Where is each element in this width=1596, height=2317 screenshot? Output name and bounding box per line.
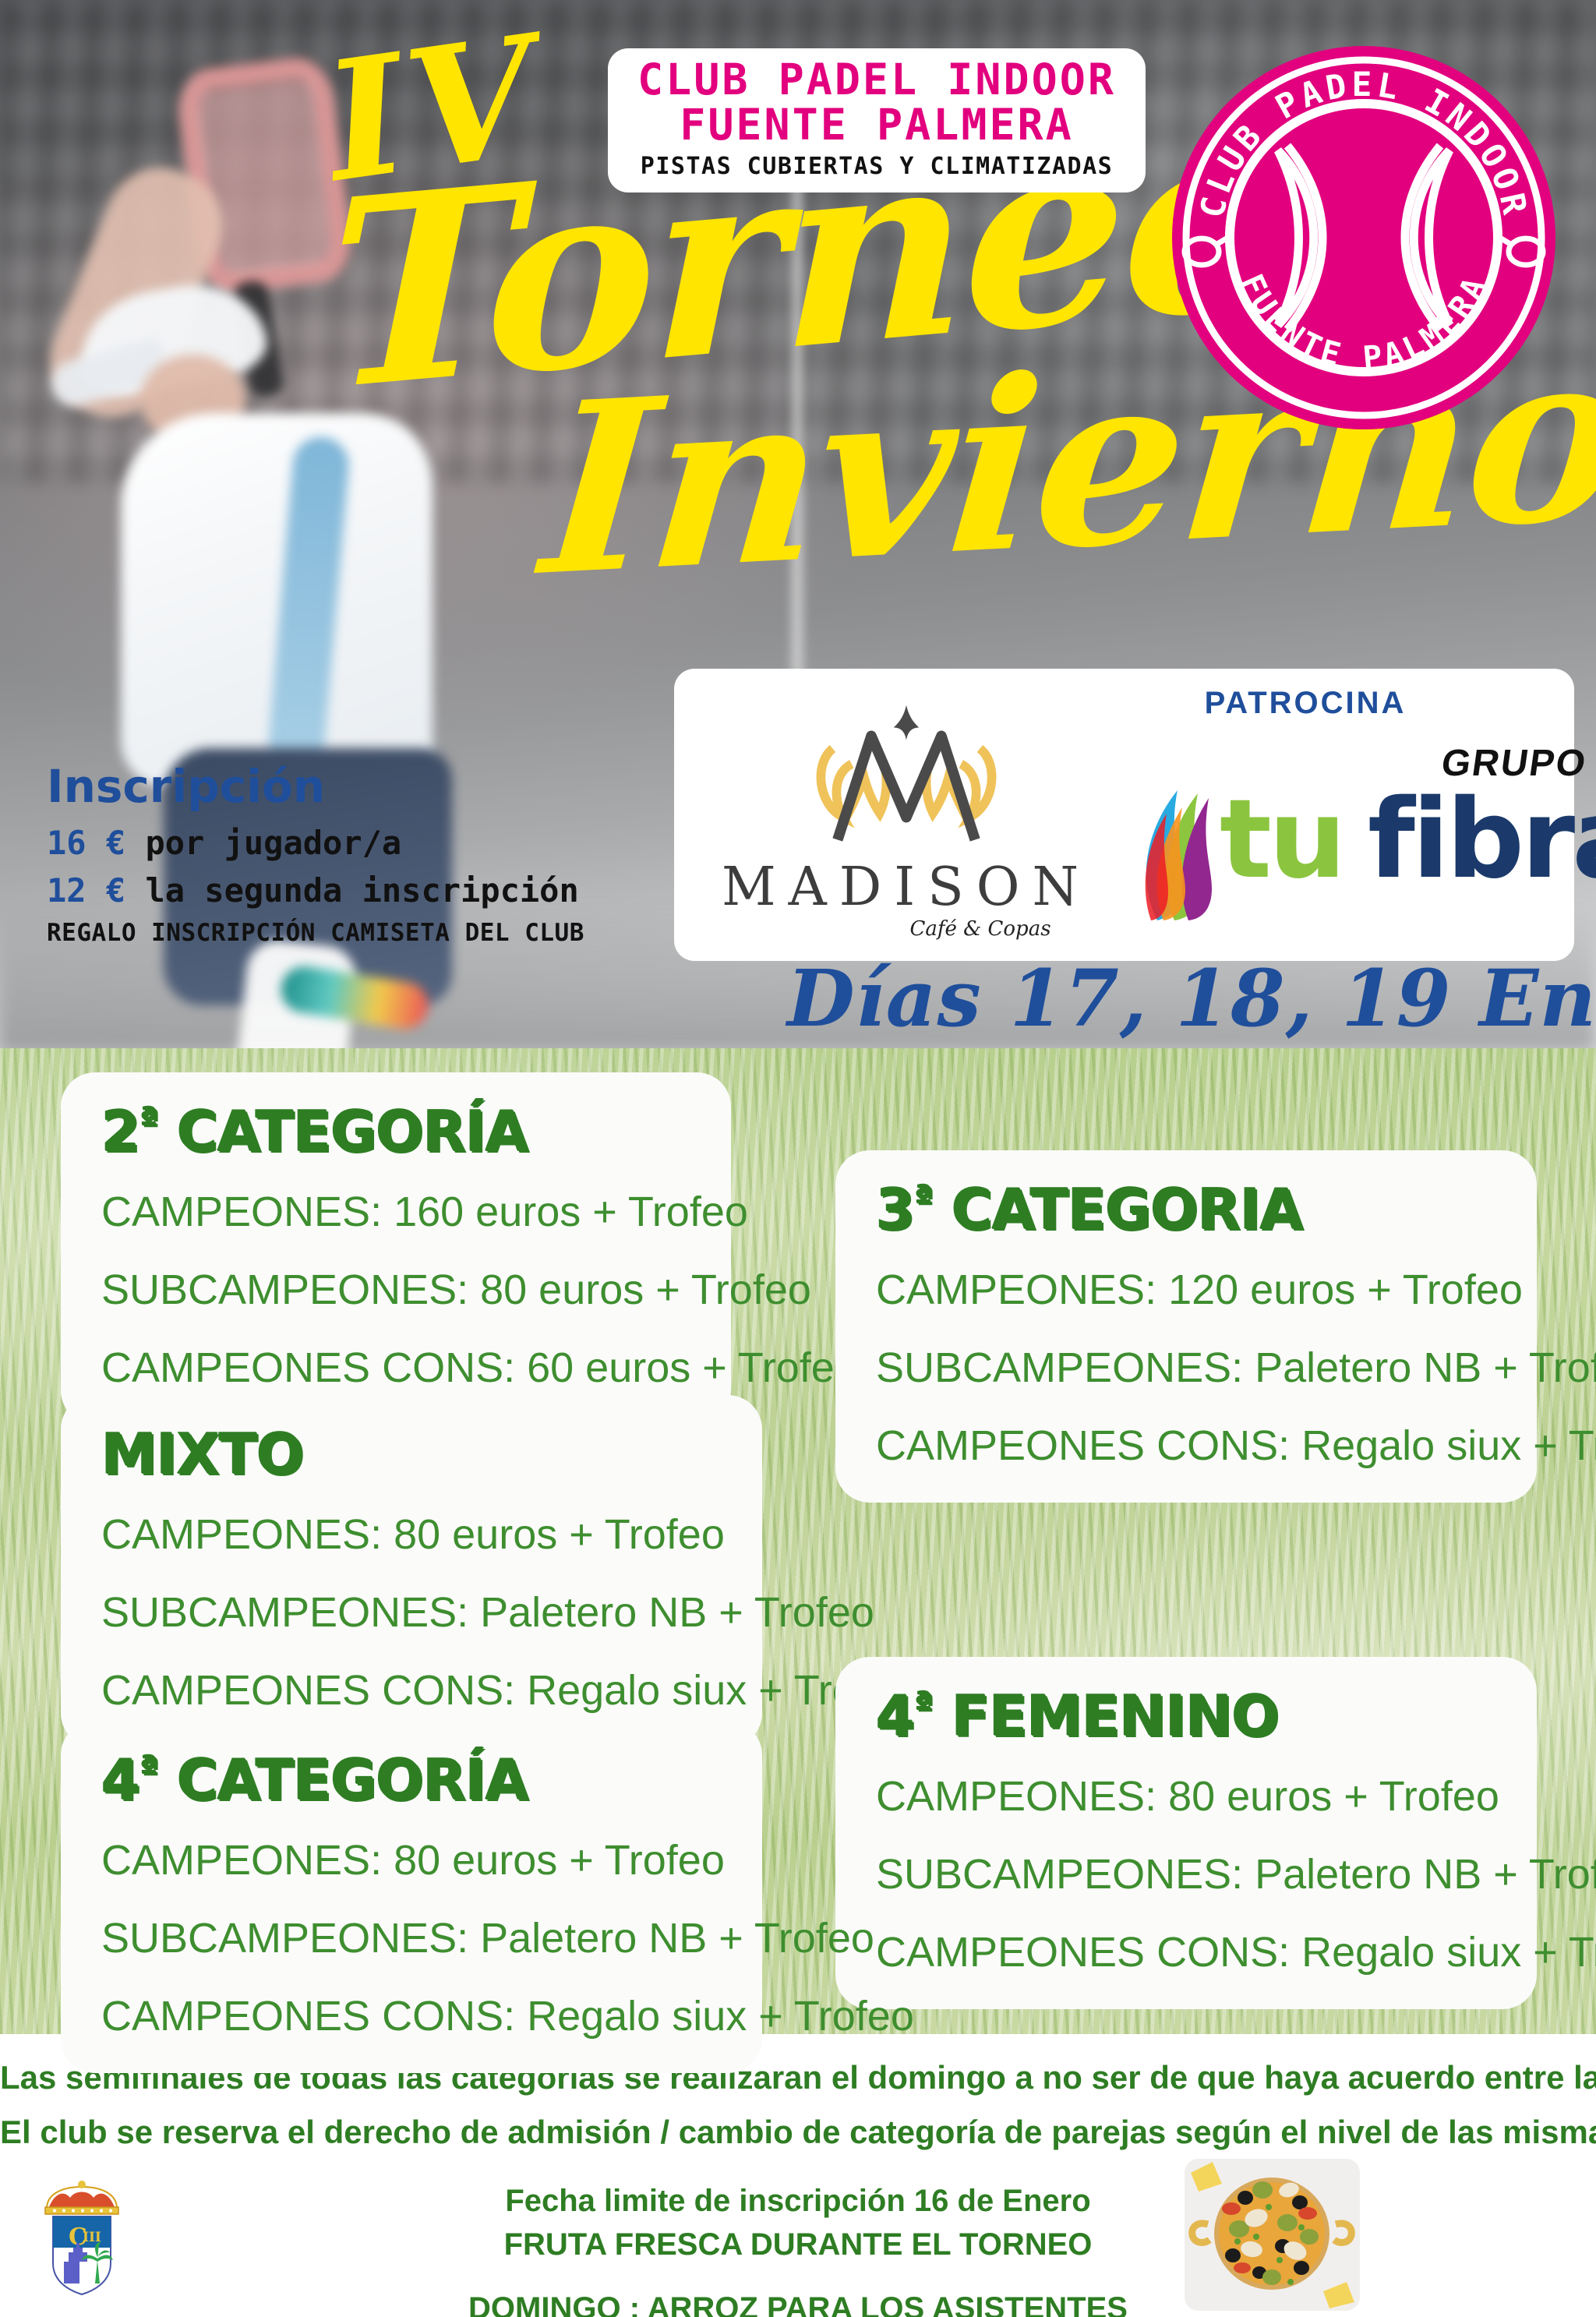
prize-subcampeones: SUBCAMPEONES: 80 euros + Trofeo <box>101 1269 690 1311</box>
category-ordinal: ª <box>139 1749 158 1789</box>
category-title: MIXTO <box>101 1426 722 1482</box>
category-name: MIXTO <box>101 1422 303 1487</box>
inscription-gift: REGALO INSCRIPCIÓN CAMISETA DEL CLUB <box>47 919 608 947</box>
category-title: 3ª CATEGORIA <box>876 1181 1496 1238</box>
tournament-poster: IV Torneo Invierno CLUB PADEL INDOOR FUE… <box>0 0 1596 2317</box>
category-title: 4ª CATEGORÍA <box>101 1752 722 1808</box>
category-title: 4ª FEMENINO <box>876 1688 1496 1744</box>
price-2-label: la segunda inscripción <box>145 871 578 909</box>
inscription-price-1: 16 € por jugador/a <box>47 824 608 862</box>
madison-wordmark: MADISON <box>696 861 1117 914</box>
prize-subcampeones: SUBCAMPEONES: Paletero NB + Trofeo <box>101 1591 722 1634</box>
category-number: 4 <box>876 1683 914 1749</box>
category-card-2a: 2ª CATEGORÍA CAMPEONES: 160 euros + Trof… <box>61 1072 731 1425</box>
prize-campeones: CAMPEONES: 80 euros + Trofeo <box>101 1839 722 1881</box>
prize-subcampeones: SUBCAMPEONES: Paletero NB + Trofeo <box>101 1917 722 1959</box>
madison-monogram-icon <box>801 698 1012 862</box>
category-name: CATEGORÍA <box>158 1747 528 1813</box>
price-1-label: por jugador/a <box>145 824 401 862</box>
paella-photo <box>1185 2159 1360 2311</box>
category-card-4a: 4ª CATEGORÍA CAMPEONES: 80 euros + Trofe… <box>61 1721 762 2073</box>
club-tagline: PISTAS CUBIERTAS Y CLIMATIZADAS <box>641 153 1113 180</box>
prize-campeones-cons: CAMPEONES CONS: 60 euros + Trofeo <box>101 1347 690 1389</box>
price-2-amount: 12 € <box>47 871 125 909</box>
category-ordinal: ª <box>139 1100 158 1140</box>
prize-campeones-cons: CAMPEONES CONS: Regalo siux + Trofeo <box>101 1669 722 1711</box>
inscription-price-2: 12 € la segunda inscripción <box>47 871 608 909</box>
category-card-mixto: MIXTO CAMPEONES: 80 euros + Trofeo SUBCA… <box>61 1395 762 1747</box>
prize-subcampeones: SUBCAMPEONES: Paletero NB + Trofeo <box>876 1347 1496 1389</box>
prize-campeones: CAMPEONES: 80 euros + Trofeo <box>101 1513 722 1556</box>
category-card-4a-femenino: 4ª FEMENINO CAMPEONES: 80 euros + Trofeo… <box>835 1657 1537 2009</box>
category-name: FEMENINO <box>933 1683 1279 1749</box>
category-title: 2ª CATEGORÍA <box>101 1104 690 1160</box>
category-number: 2 <box>101 1099 139 1164</box>
prize-campeones-cons: CAMPEONES CONS: Regalo siux + Trofeo <box>876 1931 1496 1973</box>
category-name: CATEGORIA <box>933 1177 1303 1242</box>
prize-campeones: CAMPEONES: 80 euros + Trofeo <box>876 1775 1496 1817</box>
tournament-dates: Días 17, 18, 19 Enero <box>787 952 1590 1044</box>
inscription-block: Inscripción 16 € por jugador/a 12 € la s… <box>47 760 608 947</box>
sponsors-card: PATROCINA MADISON Café & Copas GRUPO <box>674 669 1574 961</box>
club-logo-badge-icon: CLUB PADEL INDOOR FUENTE PALMERA <box>1169 43 1559 433</box>
category-card-3a: 3ª CATEGORIA CAMPEONES: 120 euros + Trof… <box>835 1150 1537 1503</box>
prize-campeones-cons: CAMPEONES CONS: Regalo siux + Trofeo <box>876 1425 1496 1467</box>
madison-tagline: Café & Copas <box>696 917 1117 941</box>
tufibra-fibra: fibra <box>1368 776 1596 903</box>
club-name-line2: FUENTE PALMERA <box>680 103 1074 148</box>
prize-campeones-cons: CAMPEONES CONS: Regalo siux + Trofeo <box>101 1995 722 2037</box>
club-name-line1: CLUB PADEL INDOOR <box>637 58 1116 103</box>
category-ordinal: ª <box>914 1685 933 1725</box>
inscription-title: Inscripción <box>47 760 608 813</box>
club-name-box: CLUB PADEL INDOOR FUENTE PALMERA PISTAS … <box>608 48 1146 192</box>
madison-logo: MADISON Café & Copas <box>696 698 1117 941</box>
category-ordinal: ª <box>914 1178 933 1218</box>
sponsors-heading: PATROCINA <box>1173 686 1438 721</box>
tufibra-logo: GRUPO tu fibra <box>1134 747 1570 934</box>
prize-campeones: CAMPEONES: 120 euros + Trofeo <box>876 1269 1496 1311</box>
prize-campeones: CAMPEONES: 160 euros + Trofeo <box>101 1191 690 1233</box>
tufibra-flame-icon <box>1134 753 1227 924</box>
tufibra-tu: tu <box>1220 776 1344 903</box>
category-number: 3 <box>876 1177 914 1242</box>
footer-note-admission: El club se reserva el derecho de admisió… <box>0 2114 1596 2151</box>
fuente-palmera-coat-of-arms-icon: C III <box>23 2174 140 2303</box>
category-name: CATEGORÍA <box>158 1099 528 1164</box>
category-number: 4 <box>101 1747 139 1813</box>
prize-subcampeones: SUBCAMPEONES: Paletero NB + Trofeo <box>876 1853 1496 1895</box>
price-1-amount: 16 € <box>47 824 125 862</box>
